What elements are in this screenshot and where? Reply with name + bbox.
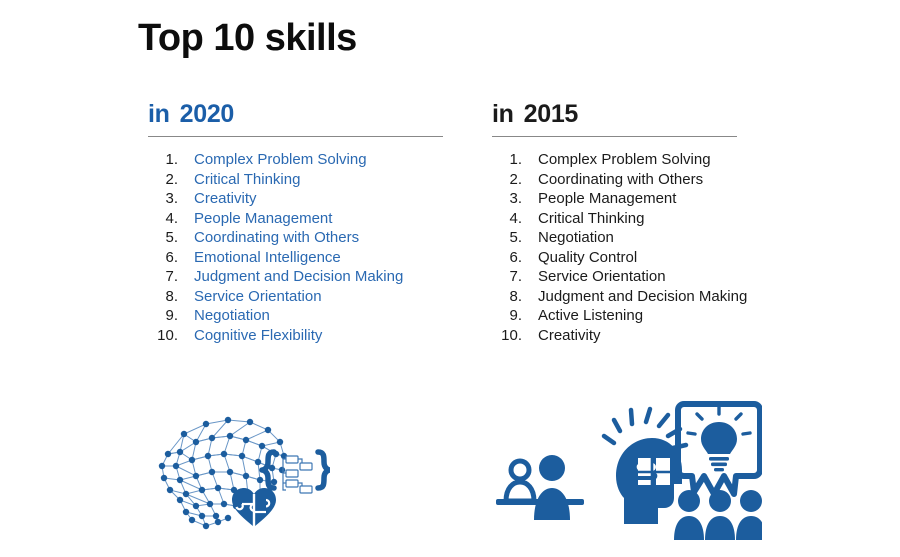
skill-number: 3. xyxy=(492,190,538,207)
skill-label: Judgment and Decision Making xyxy=(538,288,747,305)
list-item: 8. Service Orientation xyxy=(148,288,443,308)
column-2015-header: in2015 xyxy=(492,100,737,135)
list-item: 2. Critical Thinking xyxy=(148,171,443,191)
list-item: 10. Cognitive Flexibility xyxy=(148,327,443,347)
heart-puzzle-icon xyxy=(232,488,276,527)
skill-number: 10. xyxy=(492,327,538,344)
column-2020: in2020 1. Complex Problem Solving 2. Cri… xyxy=(148,100,443,346)
column-2015: in2015 1. Complex Problem Solving 2. Coo… xyxy=(492,100,737,346)
list-item: 9. Active Listening xyxy=(492,307,737,327)
skill-number: 3. xyxy=(148,190,194,207)
skill-label: Coordinating with Others xyxy=(538,171,703,188)
skill-number: 2. xyxy=(492,171,538,188)
list-item: 8. Judgment and Decision Making xyxy=(492,288,737,308)
skill-number: 5. xyxy=(148,229,194,246)
skill-label: People Management xyxy=(194,210,332,227)
skill-label: Critical Thinking xyxy=(194,171,300,188)
skill-list-2015: 1. Complex Problem Solving 2. Coordinati… xyxy=(492,151,737,346)
list-item: 10. Creativity xyxy=(492,327,737,347)
list-item: 1. Complex Problem Solving xyxy=(492,151,737,171)
skill-label: Creativity xyxy=(538,327,601,344)
skill-list-2020: 1. Complex Problem Solving 2. Critical T… xyxy=(148,151,443,346)
skill-number: 1. xyxy=(492,151,538,168)
list-item: 6. Emotional Intelligence xyxy=(148,249,443,269)
skill-number: 9. xyxy=(492,307,538,324)
page-title: Top 10 skills xyxy=(138,18,357,60)
list-item: 1. Complex Problem Solving xyxy=(148,151,443,171)
skill-label: Service Orientation xyxy=(194,288,322,305)
list-item: 2. Coordinating with Others xyxy=(492,171,737,191)
skill-number: 5. xyxy=(492,229,538,246)
skill-label: Negotiation xyxy=(538,229,614,246)
list-item: 4. People Management xyxy=(148,210,443,230)
skill-label: Quality Control xyxy=(538,249,637,266)
skill-label: Critical Thinking xyxy=(538,210,644,227)
skill-number: 6. xyxy=(148,249,194,266)
skill-number: 8. xyxy=(492,288,538,305)
lightbulb-speech-bubble-icon xyxy=(678,404,760,494)
column-2015-year: 2015 xyxy=(524,100,578,128)
list-item: 9. Negotiation xyxy=(148,307,443,327)
skill-label: Emotional Intelligence xyxy=(194,249,341,266)
two-people-at-table-icon xyxy=(496,455,584,520)
column-2015-prefix: in xyxy=(492,100,514,128)
list-item: 3. People Management xyxy=(492,190,737,210)
column-2020-rule xyxy=(148,136,443,137)
collaboration-illustration xyxy=(492,398,762,540)
skill-label: Judgment and Decision Making xyxy=(194,268,403,285)
column-2020-header: in2020 xyxy=(148,100,443,135)
skill-label: Complex Problem Solving xyxy=(194,151,367,168)
skill-label: Complex Problem Solving xyxy=(538,151,711,168)
column-2020-prefix: in xyxy=(148,100,170,128)
skill-number: 6. xyxy=(492,249,538,266)
skill-label: Creativity xyxy=(194,190,257,207)
list-item: 7. Judgment and Decision Making xyxy=(148,268,443,288)
list-item: 7. Service Orientation xyxy=(492,268,737,288)
skill-number: 9. xyxy=(148,307,194,324)
skill-label: People Management xyxy=(538,190,676,207)
skill-number: 4. xyxy=(492,210,538,227)
list-item: 5. Coordinating with Others xyxy=(148,229,443,249)
skill-number: 10. xyxy=(148,327,194,344)
skill-label: Coordinating with Others xyxy=(194,229,359,246)
slide-root: Top 10 skills in2020 1. Complex Problem … xyxy=(0,0,900,557)
audience-people-icon xyxy=(674,490,762,540)
skill-label: Cognitive Flexibility xyxy=(194,327,322,344)
skill-label: Active Listening xyxy=(538,307,643,324)
head-puzzle-idea-icon xyxy=(604,409,686,524)
network-brain-illustration xyxy=(150,408,330,538)
skill-number: 8. xyxy=(148,288,194,305)
skill-number: 7. xyxy=(492,268,538,285)
column-2020-year: 2020 xyxy=(180,100,234,128)
list-item: 4. Critical Thinking xyxy=(492,210,737,230)
list-item: 6. Quality Control xyxy=(492,249,737,269)
skill-label: Negotiation xyxy=(194,307,270,324)
column-2015-rule xyxy=(492,136,737,137)
list-item: 5. Negotiation xyxy=(492,229,737,249)
skill-number: 4. xyxy=(148,210,194,227)
lightbulb-icon xyxy=(688,407,750,471)
skill-label: Service Orientation xyxy=(538,268,666,285)
skill-number: 2. xyxy=(148,171,194,188)
skill-number: 1. xyxy=(148,151,194,168)
list-item: 3. Creativity xyxy=(148,190,443,210)
skill-number: 7. xyxy=(148,268,194,285)
